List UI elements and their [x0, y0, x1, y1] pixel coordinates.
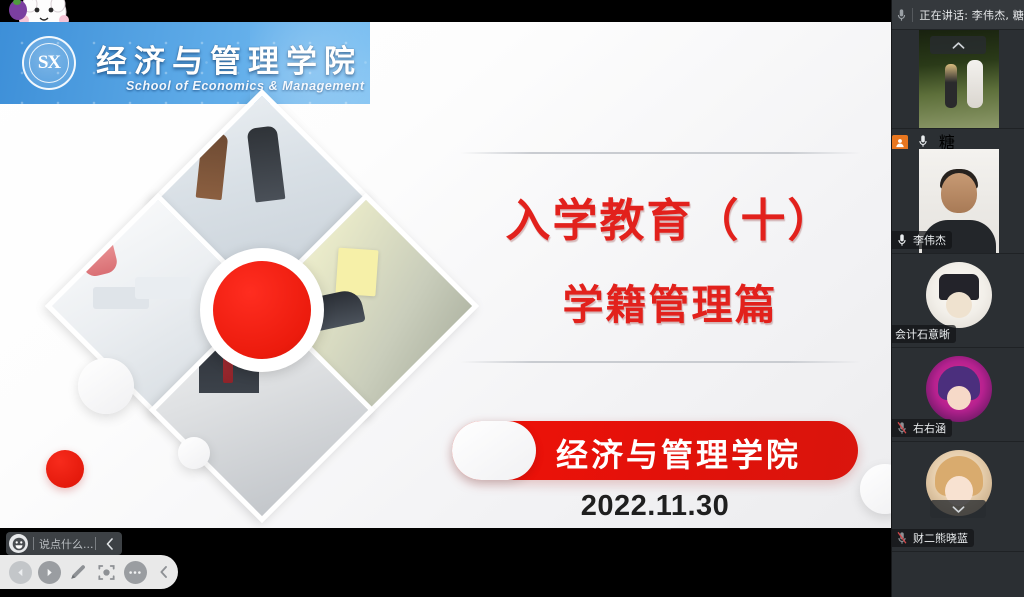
participant-tile[interactable]: 会计石意晰 [892, 254, 1024, 348]
presentation-slide: SX 经济与管理学院 School of Economics & Managem… [0, 22, 891, 528]
participant-name: 财二熊晓蓝 [913, 530, 968, 546]
decorative-circle-right [860, 464, 891, 514]
diamond-photo-collage [78, 126, 446, 494]
participant-panel[interactable]: 正在讲话: 李伟杰, 糖 [891, 0, 1024, 597]
shared-screen-stage[interactable]: SX 经济与管理学院 School of Economics & Managem… [0, 0, 891, 597]
banner-title-en: School of Economics & Management [126, 79, 365, 93]
participant-avatar [926, 356, 992, 422]
school-crest-icon: SX [22, 36, 76, 90]
scroll-down-chevron-icon[interactable] [930, 500, 986, 518]
participant-tile[interactable]: 糖 [892, 129, 1024, 149]
participant-tile[interactable]: 李伟杰 [892, 149, 1024, 254]
title-divider-bottom [460, 361, 860, 363]
mic-muted-icon [895, 421, 909, 435]
participant-avatar [926, 262, 992, 328]
emoji-icon[interactable] [9, 534, 28, 553]
toolbar-collapse-icon[interactable] [151, 558, 176, 586]
title-divider-top [460, 152, 860, 154]
participant-name-row: 会计石意晰 [892, 325, 956, 343]
decorative-circle-small [178, 437, 210, 469]
next-slide-button[interactable] [37, 558, 62, 586]
chat-divider-2 [95, 537, 96, 550]
prev-slide-button[interactable] [8, 558, 33, 586]
school-banner: SX 经济与管理学院 School of Economics & Managem… [0, 22, 370, 104]
mic-muted-icon [895, 531, 909, 545]
decorative-red-circle [46, 450, 84, 488]
chat-placeholder-text[interactable]: 说点什么... [39, 536, 94, 552]
slide-title-main: 入学教育（十） [460, 184, 880, 249]
slide-title-block: 入学教育（十） 学籍管理篇 [460, 152, 880, 363]
participant-name-row: 李伟杰 [892, 231, 952, 249]
more-options-icon[interactable] [123, 558, 148, 586]
scroll-up-chevron-icon[interactable] [930, 36, 986, 54]
participant-tile[interactable]: 财二熊晓蓝 [892, 442, 1024, 552]
crest-monogram: SX [29, 43, 69, 83]
annotate-pencil-icon[interactable] [65, 558, 90, 586]
slide-title-sub: 学籍管理篇 [460, 271, 880, 331]
participant-name-row: 财二熊晓蓝 [892, 529, 974, 547]
chat-collapse-icon[interactable] [101, 538, 119, 550]
speaker-bar-divider [912, 8, 913, 22]
speaker-mic-icon [892, 8, 912, 22]
collage-center-red-circle [200, 248, 324, 372]
participant-name: 会计石意晰 [895, 326, 950, 342]
decorative-circle-large [78, 358, 134, 414]
organization-pill: 经济与管理学院 [452, 421, 858, 480]
active-speaker-label: 正在讲话: 李伟杰, 糖 [919, 7, 1024, 23]
participant-name-row: 右右涵 [892, 419, 952, 437]
chat-input-bar[interactable]: 说点什么... [6, 532, 122, 555]
organization-name: 经济与管理学院 [556, 430, 801, 476]
presentation-toolbar[interactable] [0, 555, 178, 589]
chat-divider [33, 537, 34, 550]
participant-tile[interactable]: 右右涵 [892, 348, 1024, 442]
slide-date: 2022.11.30 [452, 490, 858, 523]
participant-name: 李伟杰 [913, 232, 946, 248]
screenshot-icon[interactable] [94, 558, 119, 586]
mic-on-icon [895, 233, 909, 247]
banner-title-cn: 经济与管理学院 [96, 36, 362, 81]
active-speaker-bar: 正在讲话: 李伟杰, 糖 [892, 0, 1024, 30]
participant-name: 右右涵 [913, 420, 946, 436]
app-root: SX 经济与管理学院 School of Economics & Managem… [0, 0, 1024, 597]
pill-white-knob [452, 421, 536, 480]
